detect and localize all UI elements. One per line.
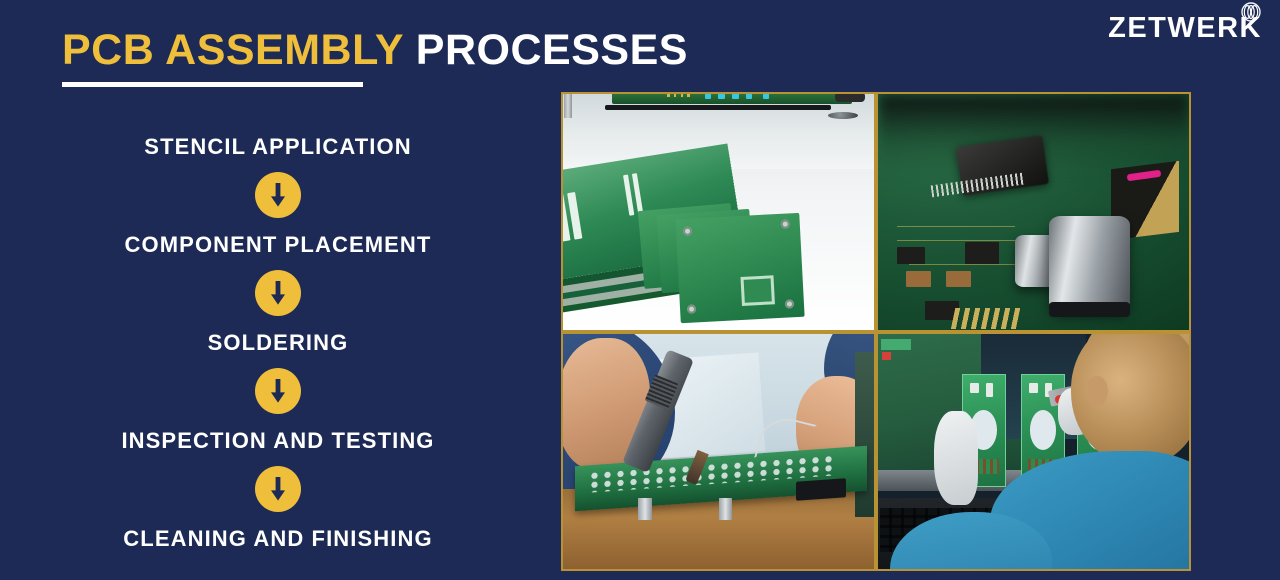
image-gallery <box>561 92 1191 571</box>
interlocking-rings-icon <box>1238 2 1264 22</box>
photo-hand-soldering <box>563 334 874 570</box>
process-step-soldering: SOLDERING <box>208 320 349 365</box>
arrow-down-icon <box>255 368 301 414</box>
brand-logo: ZETWERK <box>1108 14 1262 43</box>
arrow-down-icon <box>255 270 301 316</box>
arrow-down-icon <box>255 172 301 218</box>
page-title: PCB ASSEMBLY PROCESSES <box>62 26 688 75</box>
photo-operator-inspecting-boards <box>878 334 1189 570</box>
title-rest: PROCESSES <box>416 26 688 74</box>
photo-populated-board-macro <box>878 94 1189 330</box>
process-step-list: STENCIL APPLICATION COMPONENT PLACEMENT … <box>0 124 556 561</box>
arrow-down-icon <box>255 466 301 512</box>
process-step-inspection-and-testing: INSPECTION AND TESTING <box>121 418 434 463</box>
title-highlight: PCB ASSEMBLY <box>62 26 403 74</box>
process-step-stencil-application: STENCIL APPLICATION <box>144 124 411 169</box>
process-step-component-placement: COMPONENT PLACEMENT <box>125 222 432 267</box>
title-underline-rule <box>62 82 363 87</box>
photo-bare-pcb-panels <box>563 94 874 330</box>
process-step-cleaning-and-finishing: CLEANING AND FINISHING <box>123 516 432 561</box>
